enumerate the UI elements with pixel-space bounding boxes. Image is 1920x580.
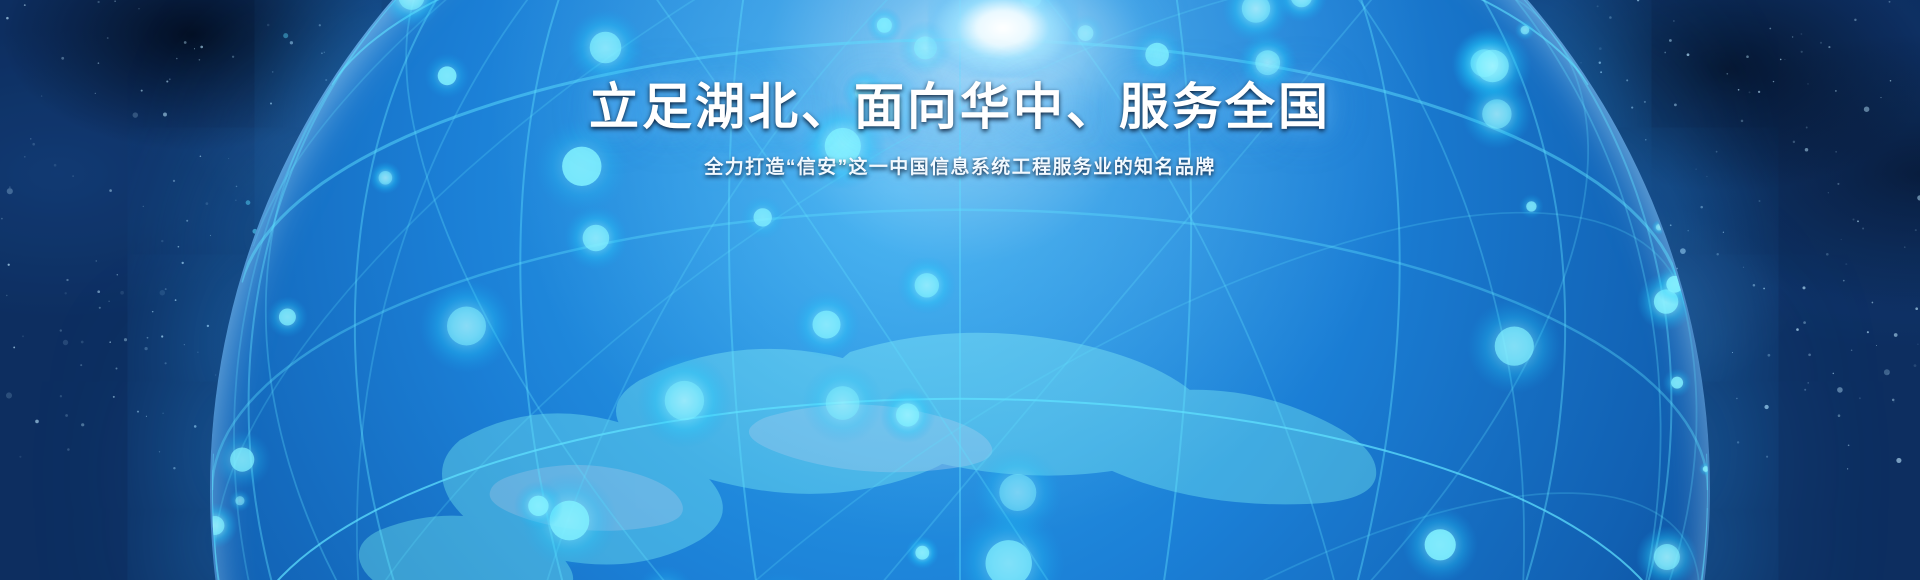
banner-copy: 立足湖北、面向华中、服务全国 全力打造“信安”这一中国信息系统工程服务业的知名品…: [0, 78, 1920, 179]
page-title: 立足湖北、面向华中、服务全国: [0, 78, 1920, 136]
hero-banner: 立足湖北、面向华中、服务全国 全力打造“信安”这一中国信息系统工程服务业的知名品…: [0, 0, 1920, 580]
page-subtitle: 全力打造“信安”这一中国信息系统工程服务业的知名品牌: [0, 152, 1920, 179]
